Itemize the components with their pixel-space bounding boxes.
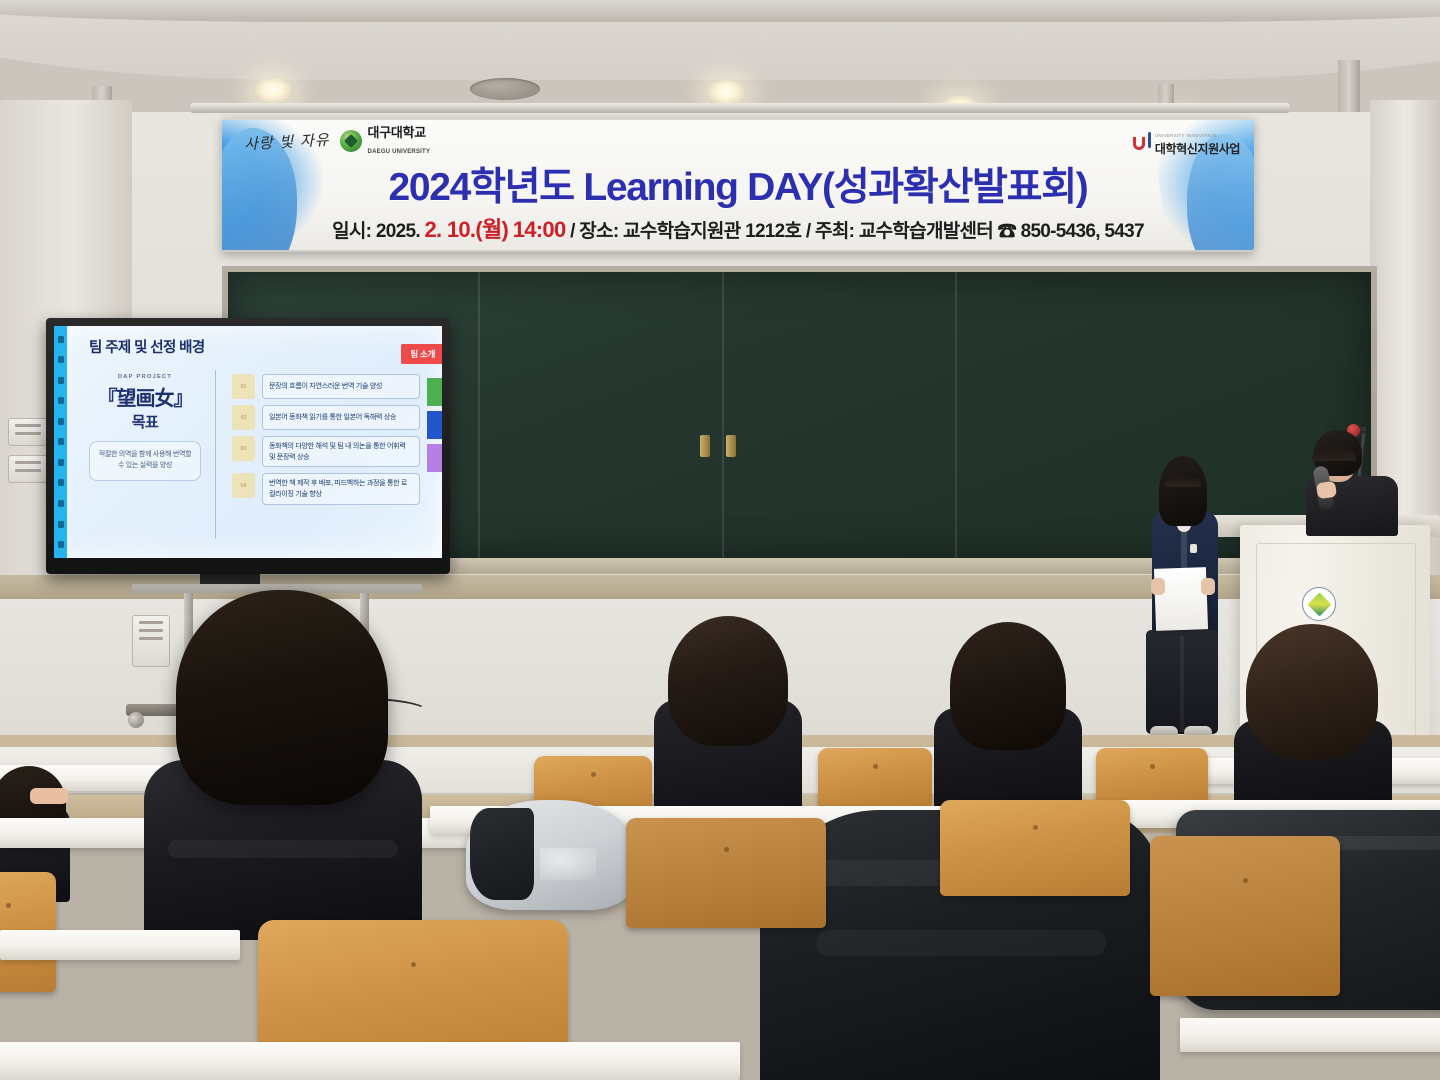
presenter-hand: [1201, 578, 1215, 595]
audience-hair: [1246, 624, 1378, 760]
university-name-en: DAEGU UNIVERSITY: [368, 149, 431, 155]
banner-info-prefix: 일시: 2025.: [332, 221, 420, 242]
ui-mark-icon: [1133, 132, 1151, 151]
blackboard-handle[interactable]: [726, 435, 736, 457]
lecture-chair[interactable]: [1150, 836, 1340, 996]
ceiling-metal-strip: [0, 0, 1440, 22]
presenter-hand: [1151, 578, 1165, 595]
bullet-number: 02: [232, 405, 255, 430]
program-sub-en: UNIVERSITY INNOVATION: [1155, 133, 1217, 138]
banner-phone: 850-5436, 5437: [1021, 221, 1144, 242]
telephone-icon: ☎: [998, 221, 1016, 242]
slide-bullet-list: 01 문장의 흐름이 자연스러운 번역 기술 양성 02 일본어 동화책 읽기를…: [232, 374, 420, 511]
bullet-text: 문장의 흐름이 자연스러운 번역 기술 양성: [262, 374, 420, 399]
slide-section-tab: 팀 소개: [401, 344, 442, 364]
presentation-display[interactable]: 팀 주제 및 선정 배경 팀 소개 DAP PROJECT 『望画女』 목표 적…: [46, 318, 450, 574]
audience-member: [1216, 620, 1406, 830]
program-name-ko: 대학혁신지원사업: [1155, 142, 1240, 156]
blackboard-seam: [722, 272, 724, 562]
lecture-chair[interactable]: [940, 800, 1130, 896]
list-item: 03 동화책의 다양한 해석 및 팀 내 의논을 통한 어휘력 및 문장력 상승: [232, 436, 420, 467]
banner-info-line: 일시: 2025. 2. 10.(월) 14:00 / 장소: 교수학습지원관 …: [222, 212, 1254, 244]
banner-time: 14:00: [513, 217, 566, 242]
presenter-bangs: [1165, 476, 1201, 487]
desk-row-3-right: [1180, 1018, 1440, 1052]
presenter-bangs: [1312, 448, 1356, 461]
list-item: 01 문장의 흐름이 자연스러운 번역 기술 양성: [232, 374, 420, 399]
desk-row-2-left-edge: [0, 930, 240, 960]
list-item: 02 일본어 동화책 읽기를 통한 일본어 독해력 상승: [232, 405, 420, 430]
audience-member: [636, 608, 816, 818]
handout-paper: [1154, 567, 1208, 631]
university-name-block: 대구대학교 DAEGU UNIVERSITY: [368, 125, 431, 158]
banner-hanging-rail: [190, 103, 1290, 113]
banner-date: 2. 10.: [425, 217, 476, 242]
blackboard-handle[interactable]: [700, 435, 710, 457]
program-logo-block: UNIVERSITY INNOVATION 대학혁신지원사업: [1133, 125, 1240, 157]
dap-project-label: DAP PROJECT: [89, 374, 201, 380]
banner-title: 2024학년도 Learning DAY(성과확산발표회): [222, 156, 1254, 212]
wall-control-panel-icon[interactable]: [8, 418, 48, 446]
audience-hair: [950, 622, 1066, 750]
slide-title: 팀 주제 및 선정 배경: [89, 336, 205, 357]
desk-row-3-foreground: [0, 1042, 740, 1080]
audience-hand: [30, 788, 68, 804]
project-title: 『望画女』: [89, 382, 201, 411]
bullet-number: 01: [232, 374, 255, 399]
university-name-ko: 대구대학교: [368, 125, 426, 140]
bullet-text: 동화책의 다양한 해석 및 팀 내 의논을 통한 어휘력 및 문장력 상승: [262, 436, 420, 467]
banner-logo-row: 사랑 빛 자유 대구대학교 DAEGU UNIVERSITY UNIVERSIT…: [244, 126, 1240, 156]
bullet-number: 03: [232, 436, 255, 461]
banner-day: (월): [475, 217, 508, 242]
bullet-text: 번역한 책 제작 후 배포, 피드백하는 과정을 통한 로컬라이징 기술 향상: [262, 473, 420, 504]
slide-left-panel: DAP PROJECT 『望画女』 목표 적절한 의역을 함께 사용해 번역할 …: [89, 374, 201, 481]
backpack-highlight: [540, 848, 596, 880]
blackboard-seam: [955, 272, 957, 562]
daegu-university-diamond-logo-icon: [340, 130, 362, 152]
university-motto-calligraphy: 사랑 빛 자유: [244, 128, 331, 153]
puffer-seam: [168, 840, 398, 858]
bullet-number: 04: [232, 473, 255, 498]
wall-control-panel-icon[interactable]: [8, 455, 48, 483]
presenter-with-microphone: [1276, 418, 1392, 528]
project-goal-box: 적절한 의역을 함께 사용해 번역할 수 있는 실력을 양성: [89, 441, 201, 481]
ceiling-vent-icon: [470, 78, 540, 100]
slide-body: 팀 주제 및 선정 배경 팀 소개 DAP PROJECT 『望画女』 목표 적…: [67, 326, 442, 558]
list-item: 04 번역한 책 제작 후 배포, 피드백하는 과정을 통한 로컬라이징 기술 …: [232, 473, 420, 504]
daegu-university-seal-icon: [1302, 587, 1336, 621]
audience-hair: [668, 616, 788, 746]
slide-film-strip-edge: [54, 326, 67, 558]
bullet-text: 일본어 동화책 읽기를 통한 일본어 독해력 상승: [262, 405, 420, 430]
presenter-hair: [1159, 456, 1207, 526]
banner-place: / 장소: 교수학습지원관 1212호 / 주최: 교수학습개발센터: [570, 221, 993, 242]
backpack-strap: [470, 808, 534, 900]
presentation-slide: 팀 주제 및 선정 배경 팀 소개 DAP PROJECT 『望画女』 목표 적…: [54, 326, 442, 558]
color-chip-blue: [427, 411, 442, 439]
name-badge-icon: [1190, 544, 1197, 553]
blackboard-seam: [478, 272, 480, 562]
lecture-hall-scene: 사랑 빛 자유 대구대학교 DAEGU UNIVERSITY UNIVERSIT…: [0, 0, 1440, 1080]
audience-member-foreground: [120, 590, 440, 930]
lecture-chair[interactable]: [626, 818, 826, 928]
ceiling-downlight: [253, 78, 293, 104]
audience-hair: [176, 590, 388, 805]
color-chip-green: [427, 378, 442, 406]
slide-vertical-divider: [215, 370, 216, 538]
slide-color-rail: [427, 378, 442, 477]
project-subtitle: 목표: [89, 411, 201, 432]
color-chip-purple: [427, 444, 442, 472]
event-banner: 사랑 빛 자유 대구대학교 DAEGU UNIVERSITY UNIVERSIT…: [222, 118, 1254, 252]
